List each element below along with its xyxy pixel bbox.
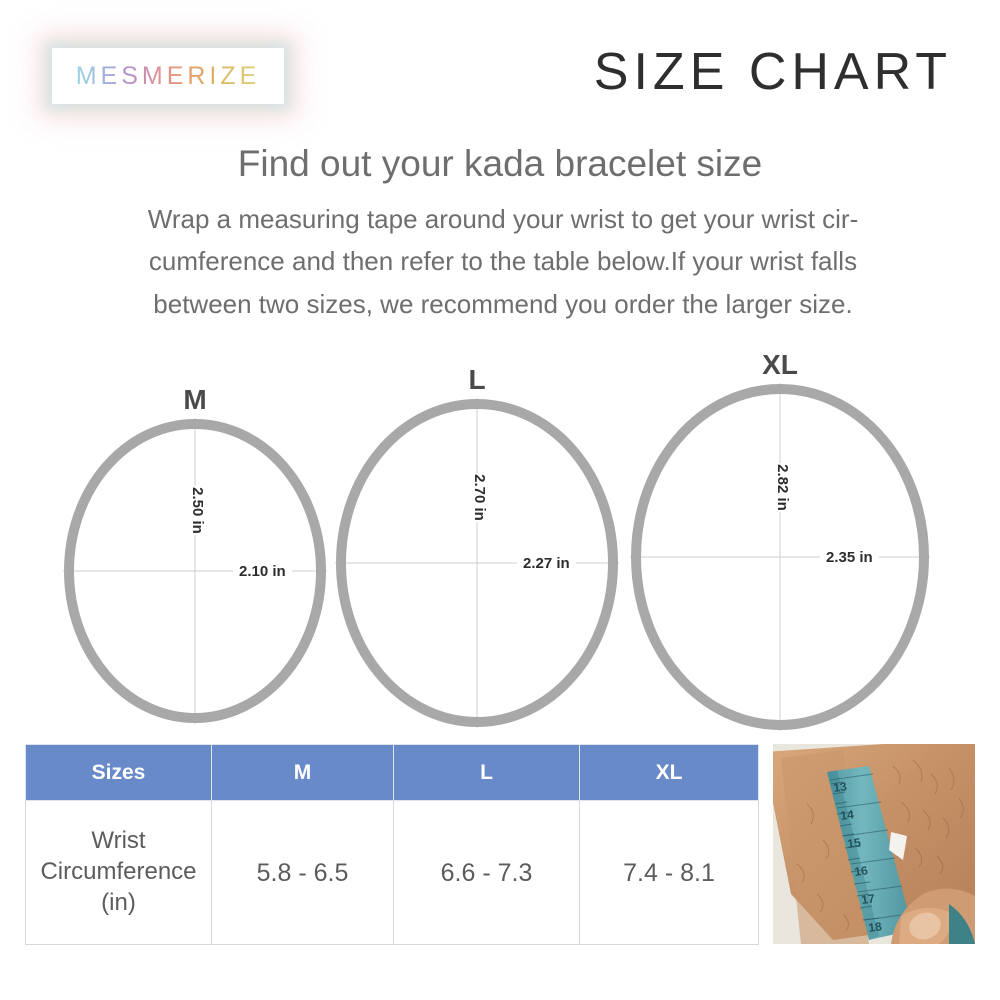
brand-logo-text: MESMERIZE bbox=[76, 62, 261, 91]
size-chart-page: MESMERIZE SIZE CHART Find out your kada … bbox=[0, 0, 1000, 1000]
bracelet-height-dimension-l: 2.70 in bbox=[465, 473, 494, 522]
table-header-l: L bbox=[394, 745, 580, 801]
svg-text:15: 15 bbox=[846, 835, 861, 851]
cell-wrist-circumference-m: 5.8 - 6.5 bbox=[212, 801, 394, 945]
bracelet-size-label-xl: XL bbox=[630, 349, 930, 381]
bracelet-width-dimension-m: 2.10 in bbox=[233, 562, 292, 581]
bracelet-height-dimension-m: 2.50 in bbox=[183, 486, 212, 535]
page-title: SIZE CHART bbox=[594, 42, 952, 102]
bracelet-width-dimension-l: 2.27 in bbox=[517, 554, 576, 573]
bracelet-height-dimension-xl: 2.82 in bbox=[768, 463, 797, 512]
svg-text:16: 16 bbox=[853, 863, 868, 879]
table-header-sizes: Sizes bbox=[26, 745, 212, 801]
bracelet-diagram-m: M 2.50 in 2.10 in bbox=[63, 418, 327, 724]
table-header-xl: XL bbox=[580, 745, 759, 801]
table-row: Wrist Circumference (in) 5.8 - 6.5 6.6 -… bbox=[26, 801, 759, 945]
cell-wrist-circumference-xl: 7.4 - 8.1 bbox=[580, 801, 759, 945]
brand-logo: MESMERIZE bbox=[52, 48, 284, 104]
wrist-photo-graphic: 13 14 15 16 17 18 bbox=[773, 744, 975, 944]
row-label-wrist-circumference: Wrist Circumference (in) bbox=[26, 801, 212, 945]
svg-text:13: 13 bbox=[832, 779, 847, 795]
intro-line-3: between two sizes, we recommend you orde… bbox=[48, 283, 958, 325]
intro-line-2: cumference and then refer to the table b… bbox=[48, 240, 958, 282]
size-table: Sizes M L XL Wrist Circumference (in) 5.… bbox=[25, 744, 759, 945]
bracelet-width-dimension-xl: 2.35 in bbox=[820, 548, 879, 567]
bracelet-diagram-xl: XL 2.82 in 2.35 in bbox=[630, 383, 930, 731]
bracelet-size-label-m: M bbox=[63, 384, 327, 416]
headline: Find out your kada bracelet size bbox=[0, 143, 1000, 185]
bracelet-oval-l-graphic bbox=[335, 398, 619, 728]
wrist-measurement-photo: 13 14 15 16 17 18 bbox=[773, 744, 975, 944]
bracelet-diagram-l: L 2.70 in 2.27 in bbox=[335, 398, 619, 728]
svg-text:14: 14 bbox=[839, 807, 854, 823]
bracelet-oval-xl-graphic bbox=[630, 383, 930, 731]
svg-text:17: 17 bbox=[860, 891, 875, 907]
svg-text:18: 18 bbox=[867, 919, 882, 935]
bracelet-size-label-l: L bbox=[335, 364, 619, 396]
table-header-row: Sizes M L XL bbox=[26, 745, 759, 801]
intro-paragraph: Wrap a measuring tape around your wrist … bbox=[48, 198, 958, 325]
intro-line-1: Wrap a measuring tape around your wrist … bbox=[48, 198, 958, 240]
table-header-m: M bbox=[212, 745, 394, 801]
cell-wrist-circumference-l: 6.6 - 7.3 bbox=[394, 801, 580, 945]
